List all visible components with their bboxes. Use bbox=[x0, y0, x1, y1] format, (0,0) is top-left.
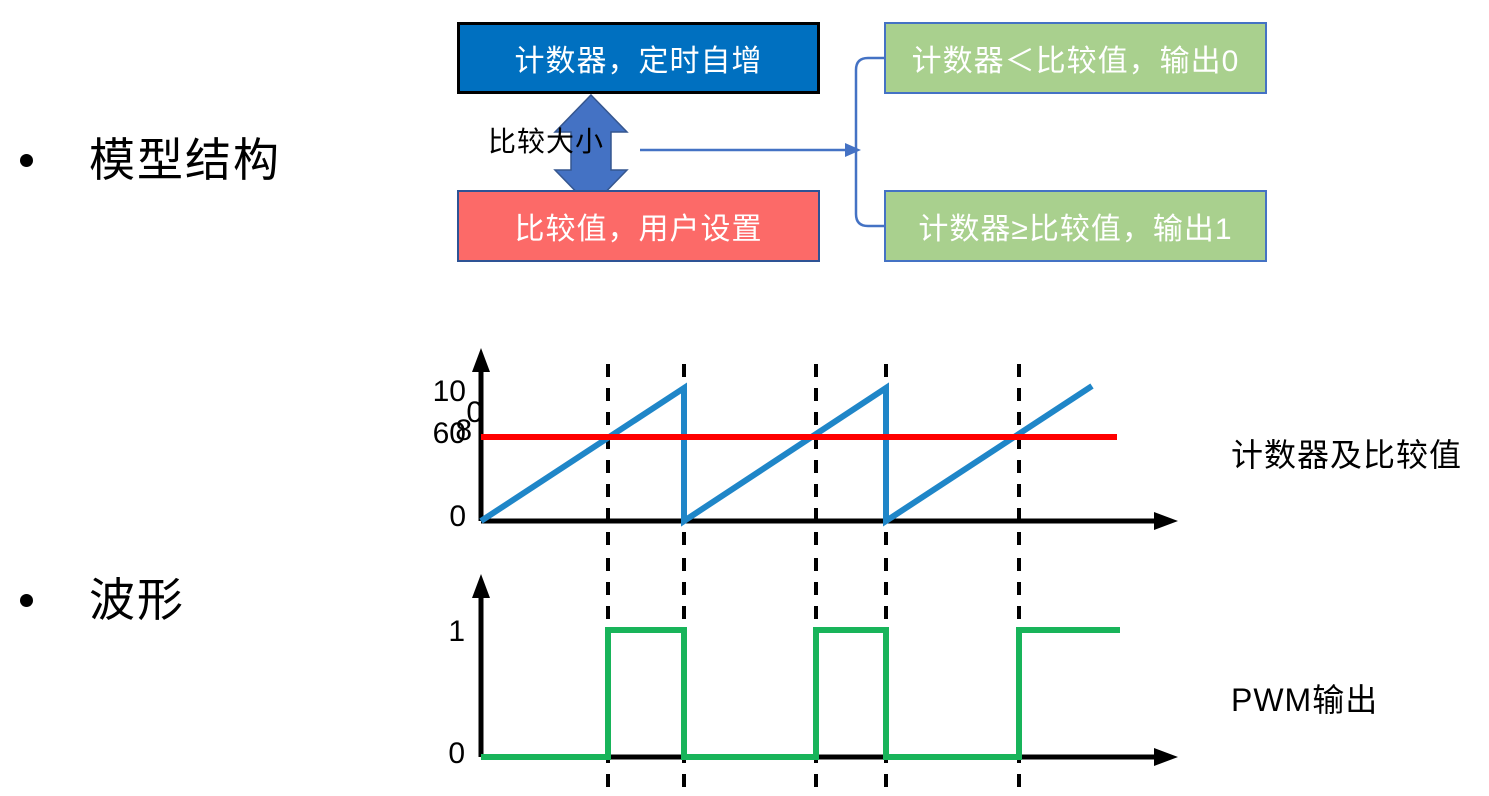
diagram-box-output-one-label: 计数器≥比较值，输出1 bbox=[918, 204, 1232, 248]
diagram-box-compare-value-label: 比较值，用户设置 bbox=[515, 204, 763, 248]
pwm-output-series bbox=[481, 630, 1120, 757]
pwm-chart-dashed-markers bbox=[608, 558, 1019, 796]
counter-chart-dashed-markers bbox=[608, 364, 1019, 545]
diagram-box-output-zero-label: 计数器＜比较值，输出0 bbox=[912, 36, 1240, 80]
counter-chart-ytick-8-overlap: 8 bbox=[448, 414, 472, 448]
bullet-dot-icon bbox=[20, 594, 33, 607]
diagram-box-compare-value[interactable]: 比较值，用户设置 bbox=[457, 190, 820, 262]
diagram-box-output-one[interactable]: 计数器≥比较值，输出1 bbox=[884, 190, 1267, 262]
pwm-chart-x-axis-arrowhead bbox=[1154, 748, 1178, 766]
diagram-box-counter[interactable]: 计数器，定时自增 bbox=[457, 22, 820, 94]
pwm-chart-ytick-one: 1 bbox=[435, 615, 465, 649]
bullet-dot-icon bbox=[20, 154, 33, 167]
caption-pwm-output: PWM输出 bbox=[1231, 675, 1378, 721]
caption-counter-and-compare: 计数器及比较值 bbox=[1231, 430, 1462, 476]
diagram-box-output-zero[interactable]: 计数器＜比较值，输出0 bbox=[884, 22, 1267, 94]
bullet-label-model-structure: 模型结构 bbox=[89, 137, 281, 183]
compare-arrow-label: 比较大小 bbox=[488, 120, 604, 160]
bullet-item-waveform: 波形 bbox=[20, 577, 185, 623]
counter-chart-x-axis-arrowhead bbox=[1154, 512, 1178, 530]
counter-chart-ytick-zero: 0 bbox=[420, 500, 466, 534]
pwm-chart-ytick-zero: 0 bbox=[435, 737, 465, 771]
connector-arrowhead bbox=[845, 143, 861, 157]
bullet-item-model-structure: 模型结构 bbox=[20, 137, 281, 183]
bullet-label-waveform: 波形 bbox=[89, 577, 185, 623]
counter-sawtooth-series bbox=[481, 386, 1092, 521]
counter-chart-y-axis-arrowhead bbox=[472, 348, 490, 372]
diagram-box-counter-label: 计数器，定时自增 bbox=[515, 36, 763, 80]
pwm-chart-y-axis-arrowhead bbox=[472, 574, 490, 598]
